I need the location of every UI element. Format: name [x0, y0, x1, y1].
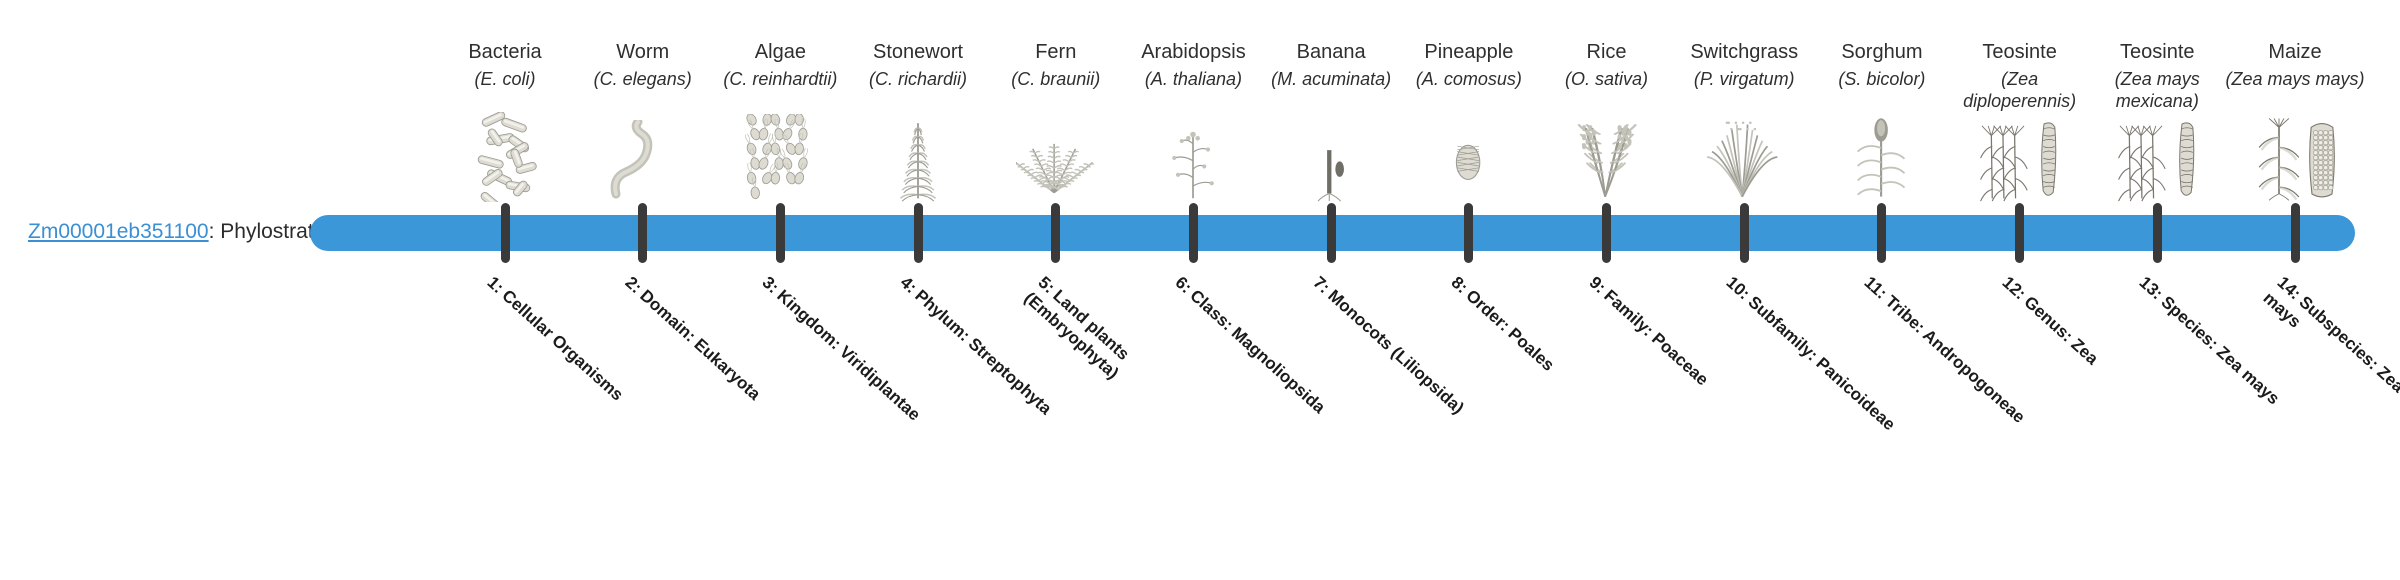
phylostratum-tick [1877, 203, 1886, 263]
stonewort-illustration-icon [843, 112, 993, 202]
species-common-name: Stonewort [843, 40, 993, 64]
phylostratum-tick [776, 203, 785, 263]
species-common-name: Banana [1256, 40, 1406, 64]
species-common-name: Switchgrass [1669, 40, 1819, 64]
fern-illustration-icon [981, 112, 1131, 202]
phylostratum-tick [1189, 203, 1198, 263]
phylostratum-tick [2291, 203, 2300, 263]
algae-illustration-icon [705, 112, 855, 202]
species-common-name: Teosinte [2082, 40, 2232, 64]
species-scientific-name: (Zea diploperennis) [1945, 68, 2095, 112]
maize-illustration-icon [2220, 112, 2370, 202]
species-common-name: Maize [2220, 40, 2370, 64]
phylostratum-tick [501, 203, 510, 263]
species-scientific-name: (C. elegans) [568, 68, 718, 90]
phylostratum-tick [914, 203, 923, 263]
species-common-name: Bacteria [430, 40, 580, 64]
phylostratum-tick [1602, 203, 1611, 263]
species-common-name: Worm [568, 40, 718, 64]
arabidopsis-illustration-icon [1118, 112, 1268, 202]
species-scientific-name: (A. comosus) [1394, 68, 1544, 90]
phylostratum-tick [1327, 203, 1336, 263]
phylostratum-figure: Zm00001eb351100: Phylostratum 1 Bacteria… [0, 0, 2400, 580]
phylostratum-tick [2015, 203, 2024, 263]
bacteria-illustration-icon [430, 112, 580, 202]
teosinte-illustration-icon [2082, 112, 2232, 202]
species-scientific-name: (C. richardii) [843, 68, 993, 90]
species-common-name: Sorghum [1807, 40, 1957, 64]
banana-illustration-icon [1256, 112, 1406, 202]
species-scientific-name: (C. braunii) [981, 68, 1131, 90]
species-common-name: Fern [981, 40, 1131, 64]
species-scientific-name: (M. acuminata) [1256, 68, 1406, 90]
switchgrass-illustration-icon [1669, 112, 1819, 202]
phylostratum-tick [2153, 203, 2162, 263]
species-scientific-name: (Zea mays mays) [2220, 68, 2370, 90]
worm-illustration-icon [568, 112, 718, 202]
gene-id-link[interactable]: Zm00001eb351100 [28, 220, 209, 243]
rice-illustration-icon [1532, 112, 1682, 202]
species-common-name: Rice [1532, 40, 1682, 64]
phylostratum-tick [638, 203, 647, 263]
species-common-name: Arabidopsis [1118, 40, 1268, 64]
phylostratum-label: 14: Subspecies: Zea mays mays [2259, 272, 2400, 457]
species-scientific-name: (S. bicolor) [1807, 68, 1957, 90]
species-scientific-name: (A. thaliana) [1118, 68, 1268, 90]
phylostratum-tick [1464, 203, 1473, 263]
species-scientific-name: (C. reinhardtii) [705, 68, 855, 90]
phylostratum-tick [1051, 203, 1060, 263]
species-common-name: Pineapple [1394, 40, 1544, 64]
pineapple-illustration-icon [1394, 112, 1544, 202]
species-common-name: Teosinte [1945, 40, 2095, 64]
species-scientific-name: (P. virgatum) [1669, 68, 1819, 90]
species-scientific-name: (E. coli) [430, 68, 580, 90]
species-scientific-name: (Zea mays mexicana) [2082, 68, 2232, 112]
sorghum-illustration-icon [1807, 112, 1957, 202]
gene-label-separator: : [209, 220, 221, 243]
phylostratum-tick [1740, 203, 1749, 263]
teosinte-illustration-icon [1945, 112, 2095, 202]
species-common-name: Algae [705, 40, 855, 64]
species-scientific-name: (O. sativa) [1532, 68, 1682, 90]
